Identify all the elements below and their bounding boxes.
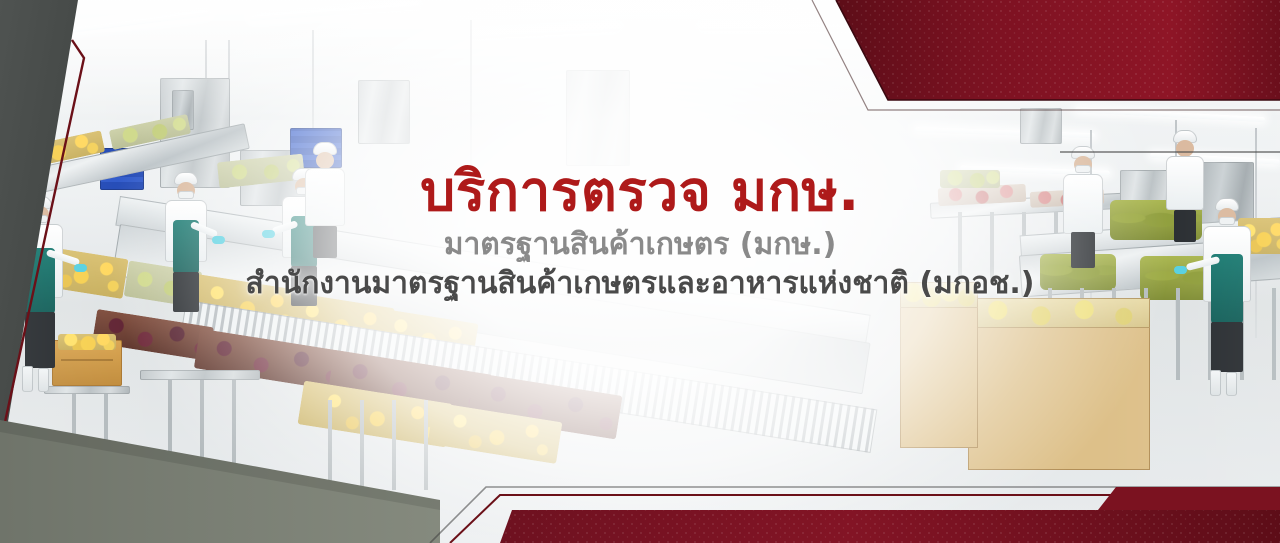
- banner-text-block: บริการตรวจ มกษ. มาตรฐานสินค้าเกษตร (มกษ.…: [0, 163, 1280, 300]
- banner-subtitle-organization: สำนักงานมาตรฐานสินค้าเกษตรและอาหารแห่งชา…: [0, 267, 1280, 300]
- banner-subtitle-primary: มาตรฐานสินค้าเกษตร (มกษ.): [0, 228, 1280, 261]
- banner-title: บริการตรวจ มกษ.: [0, 163, 1280, 219]
- agriculture-standards-banner: บริการตรวจ มกษ. มาตรฐานสินค้าเกษตร (มกษ.…: [0, 0, 1280, 543]
